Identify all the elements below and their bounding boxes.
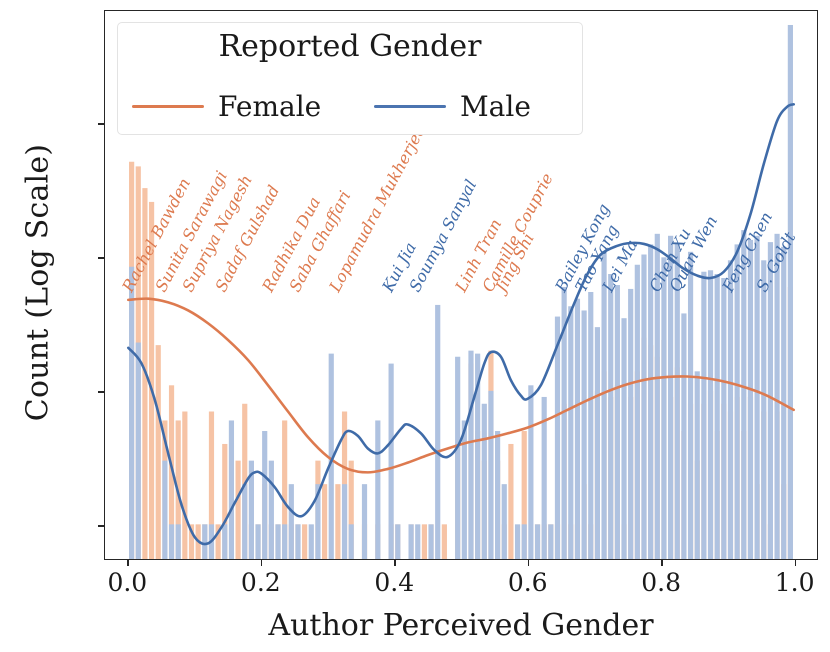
histogram-bar bbox=[635, 265, 640, 559]
histogram-bar bbox=[488, 391, 493, 559]
histogram-bar bbox=[495, 431, 500, 559]
histogram-bar bbox=[462, 420, 467, 559]
histogram-bar bbox=[242, 484, 247, 559]
x-tick-label: 0.8 bbox=[601, 568, 721, 597]
histogram-bar bbox=[582, 310, 587, 559]
histogram-bar bbox=[568, 306, 573, 559]
histogram-bar bbox=[262, 431, 267, 559]
histogram-bar bbox=[508, 444, 513, 559]
histogram-bar bbox=[688, 252, 693, 559]
histogram-bar bbox=[595, 327, 600, 559]
histogram-bar bbox=[522, 524, 527, 559]
x-tick-mark bbox=[661, 560, 663, 566]
histogram-bar bbox=[229, 420, 234, 559]
histogram-bar bbox=[601, 252, 606, 559]
histogram-bar bbox=[389, 364, 394, 559]
x-tick-label: 0.2 bbox=[201, 568, 321, 597]
legend-swatch-male bbox=[374, 105, 446, 108]
histogram-bar bbox=[295, 524, 300, 559]
histogram-bar bbox=[588, 292, 593, 559]
histogram-bar bbox=[661, 257, 666, 559]
histogram-bar bbox=[136, 343, 141, 559]
legend-label-female: Female bbox=[218, 90, 321, 123]
histogram-bar bbox=[628, 289, 633, 559]
histogram-bar bbox=[342, 484, 347, 559]
histogram-bar bbox=[289, 484, 294, 559]
histogram-bar bbox=[302, 524, 307, 559]
histogram-bar bbox=[255, 524, 260, 559]
histogram-bar bbox=[548, 524, 553, 559]
gender-distribution-figure: Count (Log Scale) 100101102103 Rachel Ba… bbox=[0, 0, 830, 652]
histogram-bar bbox=[435, 305, 440, 559]
histogram-bar bbox=[575, 299, 580, 559]
histogram-bar bbox=[528, 385, 533, 559]
histogram-bar bbox=[156, 345, 161, 559]
histogram-bar bbox=[442, 524, 447, 559]
histogram-bar bbox=[422, 524, 427, 559]
histogram-bar bbox=[748, 240, 753, 559]
histogram-bar bbox=[621, 318, 626, 559]
x-tick-mark bbox=[394, 560, 396, 566]
x-tick-label: 1.0 bbox=[735, 568, 830, 597]
legend-swatch-female bbox=[132, 105, 204, 108]
histogram-bar bbox=[681, 313, 686, 559]
histogram-bar bbox=[768, 242, 773, 559]
histogram-bar bbox=[282, 524, 287, 559]
histogram-bar bbox=[761, 260, 766, 559]
kde-curve-female-kde bbox=[128, 299, 793, 473]
x-tick-mark bbox=[261, 560, 263, 566]
histogram-bar bbox=[721, 278, 726, 559]
legend-title: Reported Gender bbox=[118, 29, 582, 64]
histogram-bar bbox=[322, 484, 327, 559]
kde-curve-male-kde bbox=[128, 104, 793, 544]
histogram-bar bbox=[675, 243, 680, 559]
histogram-bar bbox=[755, 236, 760, 559]
histogram-bar bbox=[515, 524, 520, 559]
histogram-bar bbox=[415, 524, 420, 559]
histogram-bar bbox=[275, 524, 280, 559]
histogram-bar bbox=[455, 357, 460, 559]
histogram-bar bbox=[735, 244, 740, 559]
histogram-bar bbox=[395, 524, 400, 559]
bar-series-female bbox=[129, 162, 793, 559]
legend-label-male: Male bbox=[460, 90, 531, 123]
x-tick-label: 0.0 bbox=[67, 568, 187, 597]
histogram-bar bbox=[535, 524, 540, 559]
histogram-bar bbox=[176, 524, 181, 559]
histogram-bar bbox=[269, 461, 274, 559]
x-tick-label: 0.6 bbox=[468, 568, 588, 597]
histogram-bar bbox=[375, 420, 380, 559]
histogram-bar bbox=[222, 524, 227, 559]
histogram-bar bbox=[408, 524, 413, 559]
x-tick-mark bbox=[127, 560, 129, 566]
histogram-bar bbox=[728, 260, 733, 559]
x-tick-mark bbox=[528, 560, 530, 566]
histogram-bar bbox=[741, 230, 746, 559]
histogram-bar bbox=[362, 484, 367, 559]
legend-entry-female[interactable]: Female bbox=[132, 89, 321, 123]
histogram-bar bbox=[349, 524, 354, 559]
histogram-bar bbox=[695, 371, 700, 559]
histogram-bar bbox=[641, 255, 646, 559]
histogram-bar bbox=[162, 461, 167, 559]
histogram-bar bbox=[608, 274, 613, 559]
histogram-bar bbox=[335, 484, 340, 559]
x-tick-label: 0.4 bbox=[334, 568, 454, 597]
x-axis-label: Author Perceived Gender bbox=[104, 608, 818, 643]
histogram-bar bbox=[648, 244, 653, 559]
histogram-bar bbox=[701, 272, 706, 559]
histogram-bar bbox=[468, 351, 473, 559]
histogram-bar bbox=[655, 234, 660, 559]
legend: Reported Gender Female Male bbox=[117, 22, 583, 135]
x-tick-mark bbox=[795, 560, 797, 566]
histogram-bar bbox=[202, 524, 207, 559]
histogram-bar bbox=[309, 524, 314, 559]
histogram-bar bbox=[774, 234, 779, 559]
y-axis-label: Count (Log Scale) bbox=[21, 43, 56, 523]
histogram-bar bbox=[428, 524, 433, 559]
histogram-bar bbox=[502, 484, 507, 559]
histogram-bar bbox=[708, 270, 713, 559]
legend-entry-male[interactable]: Male bbox=[374, 89, 531, 123]
histogram-bar bbox=[482, 404, 487, 559]
histogram-bar bbox=[668, 236, 673, 559]
histogram-bar bbox=[715, 274, 720, 559]
histogram-bar bbox=[169, 524, 174, 559]
histogram-bar bbox=[235, 461, 240, 559]
histogram-bar bbox=[615, 285, 620, 559]
histogram-bar bbox=[182, 412, 187, 559]
histogram-bar bbox=[129, 267, 134, 559]
